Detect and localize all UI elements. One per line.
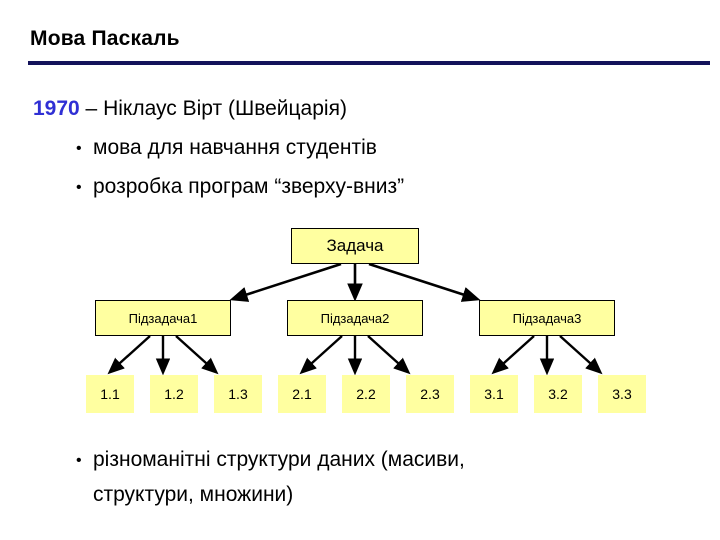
diagram-node-root[interactable]: Задача: [291, 228, 419, 264]
diagram-node-leaf-2-2[interactable]: 2.2: [342, 375, 390, 413]
closing-bullet-item: •різноманітні структури даних (масиви, с…: [76, 443, 688, 512]
diagram-node-leaf-3-1-label: 3.1: [484, 386, 503, 402]
diagram-node-leaf-3-2[interactable]: 3.2: [534, 375, 582, 413]
diagram-node-branch-3-label: Підзадача3: [513, 311, 582, 326]
diagram-node-leaf-2-1-label: 2.1: [292, 386, 311, 402]
closing-bullet-line-1: різноманітні структури даних (масиви,: [93, 448, 465, 471]
diagram-node-branch-2[interactable]: Підзадача2: [287, 300, 423, 336]
diagram-node-leaf-3-2-label: 3.2: [548, 386, 567, 402]
diagram-node-leaf-1-3-label: 1.3: [228, 386, 247, 402]
diagram-node-leaf-1-1-label: 1.1: [100, 386, 119, 402]
diagram-node-branch-1-label: Підзадача1: [129, 311, 198, 326]
closing-bullet-line-2: структури, множини): [93, 478, 688, 512]
diagram-node-branch-1[interactable]: Підзадача1: [95, 300, 231, 336]
diagram-node-leaf-2-2-label: 2.2: [356, 386, 375, 402]
diagram-node-root-label: Задача: [326, 236, 383, 256]
diagram-node-branch-3[interactable]: Підзадача3: [479, 300, 615, 336]
diagram-node-leaf-2-3-label: 2.3: [420, 386, 439, 402]
diagram-node-leaf-1-2-label: 1.2: [164, 386, 183, 402]
diagram-node-leaf-1-1[interactable]: 1.1: [86, 375, 134, 413]
diagram-node-leaf-1-3[interactable]: 1.3: [214, 375, 262, 413]
diagram-node-leaf-2-1[interactable]: 2.1: [278, 375, 326, 413]
diagram-node-leaf-3-1[interactable]: 3.1: [470, 375, 518, 413]
bullet-marker-icon: •: [76, 444, 93, 478]
diagram-node-leaf-1-2[interactable]: 1.2: [150, 375, 198, 413]
diagram-node-branch-2-label: Підзадача2: [321, 311, 390, 326]
diagram-node-leaf-3-3[interactable]: 3.3: [598, 375, 646, 413]
diagram-node-leaf-3-3-label: 3.3: [612, 386, 631, 402]
diagram-node-leaf-2-3[interactable]: 2.3: [406, 375, 454, 413]
